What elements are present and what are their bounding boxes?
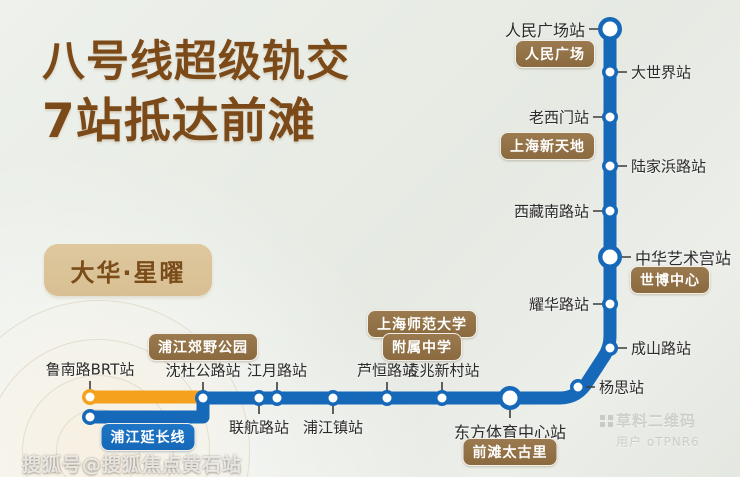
station-dot-laoximen[interactable] (602, 109, 618, 125)
tag-shishida-line2: 附属中学 (382, 333, 462, 361)
station-label-dashijie: 大世界站 (631, 62, 691, 83)
station-dot-shendu-gonglu[interactable] (195, 390, 211, 406)
tag-shibo-zhongxin: 世博中心 (630, 266, 710, 294)
station-label-lianhang-lu: 联航路站 (229, 417, 289, 438)
station-dots-layer (0, 0, 740, 477)
tag-qiantan-taikooli: 前滩太古里 (463, 438, 558, 466)
station-dot-yaohua-lu[interactable] (602, 296, 618, 312)
station-dot-lianhang-lu[interactable] (251, 390, 267, 406)
station-label-luheng-lu: 芦恒路站 (357, 360, 417, 381)
station-dot-pujiang-branch[interactable] (82, 409, 98, 425)
station-label-jiangyue-lu: 江月路站 (247, 360, 307, 381)
station-dot-yangsi[interactable] (570, 379, 586, 395)
station-label-lujiabang-lu: 陆家浜路站 (631, 156, 706, 177)
tag-renmin-guangchang: 人民广场 (515, 40, 595, 68)
station-dot-pujiang-zhen[interactable] (325, 390, 341, 406)
station-dot-lunan-lu-brt[interactable] (82, 389, 98, 405)
tag-xintiandi: 上海新天地 (500, 132, 595, 160)
station-dot-chengshan-lu[interactable] (602, 340, 618, 356)
tag-pujiang-yanchang: 浦江延长线 (101, 423, 196, 451)
station-label-yangsi: 杨思站 (599, 377, 644, 398)
station-dot-zhonghua-yishugong[interactable] (598, 245, 622, 269)
metro-line-poster: 八号线超级轨交 7站抵达前滩 大华·星曜 人民广场站大世界站老西门站陆家浜路站西… (0, 0, 740, 477)
station-dot-xizang-nan-lu[interactable] (602, 203, 618, 219)
station-label-renmin-guangchang: 人民广场站 (505, 17, 585, 41)
station-dot-dongfang-tiyu[interactable] (498, 386, 522, 410)
station-dot-dashijie[interactable] (602, 64, 618, 80)
station-dot-lujiabang-lu[interactable] (602, 158, 618, 174)
station-dot-lingzhao-xincun[interactable] (434, 390, 450, 406)
station-dot-renmin-guangchang[interactable] (598, 17, 622, 41)
station-label-yaohua-lu: 耀华路站 (529, 294, 589, 315)
station-label-lunan-lu-brt: 鲁南路BRT站 (46, 359, 135, 380)
station-dot-jiangyue-lu[interactable] (269, 390, 285, 406)
station-label-xizang-nan-lu: 西藏南路站 (514, 201, 589, 222)
station-label-laoximen: 老西门站 (529, 107, 589, 128)
station-dot-luheng-lu[interactable] (379, 390, 395, 406)
tag-pujiang-jiaoye: 浦江郊野公园 (148, 333, 258, 361)
station-label-pujiang-zhen: 浦江镇站 (303, 417, 363, 438)
station-label-chengshan-lu: 成山路站 (631, 338, 691, 359)
station-label-shendu-gonglu: 沈杜公路站 (165, 360, 240, 381)
